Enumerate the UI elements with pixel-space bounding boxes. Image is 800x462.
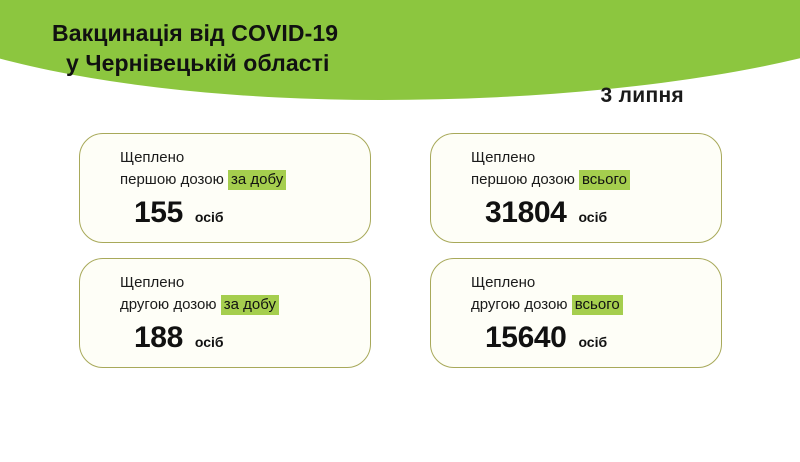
card-value-row: 155 осіб xyxy=(120,197,370,229)
page-title: Вакцинація від COVID-19 у Чернівецькій о… xyxy=(52,18,338,78)
card-unit: осіб xyxy=(195,334,224,350)
card-label-line2: другою дозою всього xyxy=(471,294,721,315)
infographic-poster: Вакцинація від COVID-19 у Чернівецькій о… xyxy=(0,0,800,462)
card-label-line1: Щеплено xyxy=(471,147,721,168)
stat-card-first-dose-daily: Щеплено першою дозою за добу 155 осіб xyxy=(79,133,371,243)
card-label-prefix: першою дозою xyxy=(471,171,579,188)
card-label-highlight: за добу xyxy=(228,170,286,190)
page-title-line1: Вакцинація від COVID-19 xyxy=(52,18,338,48)
card-unit: осіб xyxy=(578,334,607,350)
page-title-line2: у Чернівецькій області xyxy=(52,48,338,78)
footer: Чернівецька обласна державна адміністрац… xyxy=(0,388,800,462)
card-label-line2: другою дозою за добу xyxy=(120,294,370,315)
card-label-prefix: першою дозою xyxy=(120,171,228,188)
card-label-line1: Щеплено xyxy=(120,147,370,168)
card-label-line2: першою дозою за добу xyxy=(120,169,370,190)
card-value: 15640 xyxy=(485,322,566,354)
card-value-row: 31804 осіб xyxy=(471,197,721,229)
stat-card-first-dose-total: Щеплено першою дозою всього 31804 осіб xyxy=(430,133,722,243)
stat-card-second-dose-daily: Щеплено другою дозою за добу 188 осіб xyxy=(79,258,371,368)
card-label-line2: першою дозою всього xyxy=(471,169,721,190)
card-label-highlight: за добу xyxy=(221,295,279,315)
report-date: 3 липня xyxy=(601,84,685,108)
card-value: 31804 xyxy=(485,197,566,229)
stat-card-second-dose-total: Щеплено другою дозою всього 15640 осіб xyxy=(430,258,722,368)
card-value: 188 xyxy=(134,322,183,354)
card-label-line1: Щеплено xyxy=(120,272,370,293)
card-label-line1: Щеплено xyxy=(471,272,721,293)
card-label-highlight: всього xyxy=(572,295,623,315)
card-label-prefix: другою дозою xyxy=(120,296,221,313)
card-label-highlight: всього xyxy=(579,170,630,190)
card-value-row: 15640 осіб xyxy=(471,322,721,354)
card-value: 155 xyxy=(134,197,183,229)
card-unit: осіб xyxy=(578,209,607,225)
card-value-row: 188 осіб xyxy=(120,322,370,354)
card-label-prefix: другою дозою xyxy=(471,296,572,313)
card-unit: осіб xyxy=(195,209,224,225)
